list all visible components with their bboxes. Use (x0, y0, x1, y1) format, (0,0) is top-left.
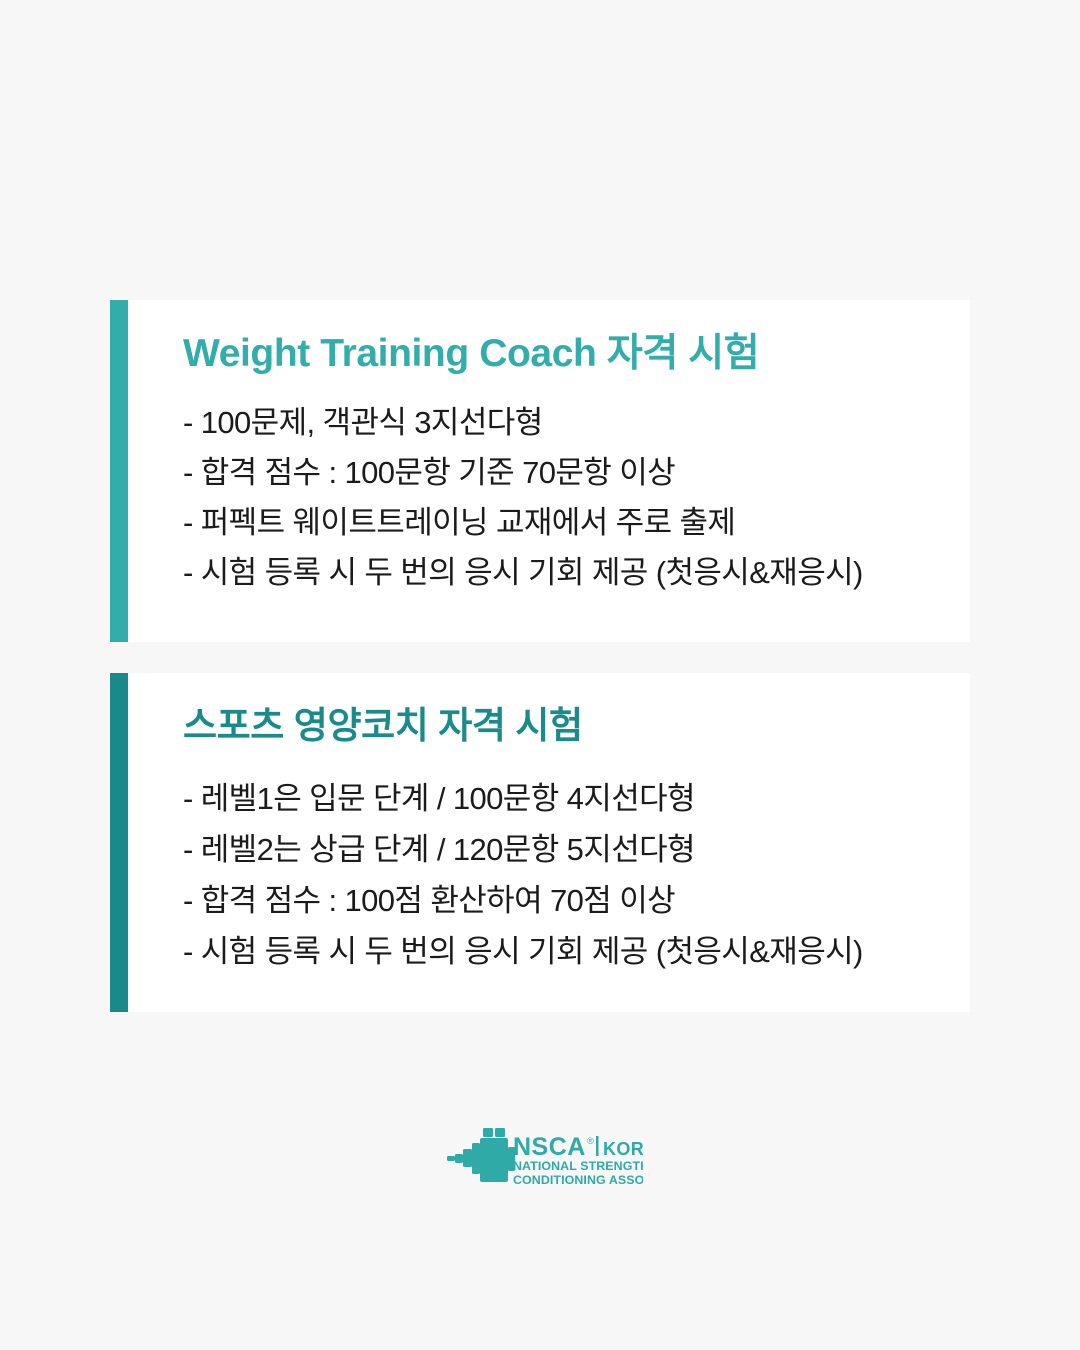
card-bullet-item: - 합격 점수 : 100문항 기준 70문항 이상 (183, 448, 863, 498)
card-accent-bar (110, 673, 128, 1012)
card-bullet-list: - 100문제, 객관식 3지선다형 - 합격 점수 : 100문항 기준 70… (183, 398, 863, 598)
logo-region-text: KOREA (603, 1139, 643, 1159)
card-bullet-item: - 레벨2는 상급 단계 / 120문항 5지선다형 (183, 824, 863, 875)
nsca-korea-logo: NSCA ® KOREA NATIONAL STRENGTH AND CONDI… (447, 1126, 643, 1188)
card-bullet-item: - 레벨1은 입문 단계 / 100문항 4지선다형 (183, 773, 863, 824)
card-content: 스포츠 영양코치 자격 시험 - 레벨1은 입문 단계 / 100문항 4지선다… (128, 673, 970, 1012)
logo-tagline-line-1: NATIONAL STRENGTH AND (513, 1159, 643, 1173)
card-bullet-item: - 시험 등록 시 두 번의 응시 기회 제공 (첫응시&재응시) (183, 548, 863, 598)
card-bullet-item: - 합격 점수 : 100점 환산하여 70점 이상 (183, 875, 863, 926)
card-title: 스포츠 영양코치 자격 시험 (183, 695, 583, 749)
poster-canvas: Weight Training Coach 자격 시험 - 100문제, 객관식… (0, 0, 1080, 1350)
nsca-barbell-mark (447, 1128, 515, 1182)
exam-card-sports-nutrition-coach: 스포츠 영양코치 자격 시험 - 레벨1은 입문 단계 / 100문항 4지선다… (110, 673, 970, 1012)
card-bullet-item: - 100문제, 객관식 3지선다형 (183, 398, 863, 448)
exam-card-weight-training-coach: Weight Training Coach 자격 시험 - 100문제, 객관식… (110, 300, 970, 642)
card-bullet-item: - 시험 등록 시 두 번의 응시 기회 제공 (첫응시&재응시) (183, 926, 863, 977)
logo-tagline-line-2: CONDITIONING ASSOCIATION (513, 1173, 643, 1187)
logo-registered-mark: ® (587, 1136, 594, 1146)
card-content: Weight Training Coach 자격 시험 - 100문제, 객관식… (128, 300, 970, 642)
logo-divider (596, 1136, 599, 1156)
card-accent-bar (110, 300, 128, 642)
card-bullet-item: - 퍼펙트 웨이트트레이닝 교재에서 주로 출제 (183, 498, 863, 548)
logo-brand-text: NSCA (513, 1133, 586, 1161)
card-title: Weight Training Coach 자격 시험 (183, 322, 759, 378)
card-bullet-list: - 레벨1은 입문 단계 / 100문항 4지선다형 - 레벨2는 상급 단계 … (183, 773, 863, 977)
